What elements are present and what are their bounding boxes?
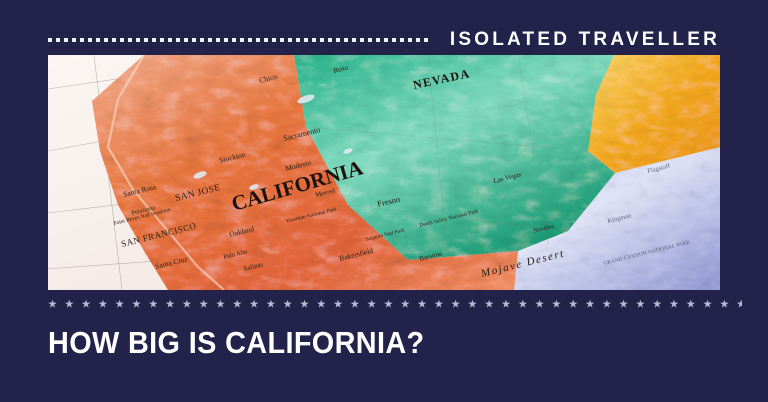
rule-star <box>703 300 712 309</box>
rule-star <box>468 300 477 309</box>
rule-star <box>48 300 57 309</box>
rule-star <box>619 300 628 309</box>
rule-dot <box>136 38 140 42</box>
rule-star <box>300 300 309 309</box>
rule-dot <box>328 38 332 42</box>
rule-star <box>720 300 729 309</box>
rule-star <box>199 300 208 309</box>
rule-star <box>384 300 393 309</box>
rule-dot <box>344 38 348 42</box>
rule-star <box>149 300 158 309</box>
rule-star <box>401 300 410 309</box>
brand-wordmark: ISOLATED TRAVELLER <box>450 29 720 51</box>
rule-star <box>569 300 578 309</box>
rule-star <box>502 300 511 309</box>
dotted-rule <box>48 33 430 47</box>
rule-dot <box>384 38 388 42</box>
rule-dot <box>280 38 284 42</box>
rule-dot <box>112 38 116 42</box>
rule-dot <box>96 38 100 42</box>
rule-star <box>98 300 107 309</box>
rule-star <box>535 300 544 309</box>
rule-dot <box>176 38 180 42</box>
rule-star <box>334 300 343 309</box>
rule-star <box>266 300 275 309</box>
rule-dot <box>88 38 92 42</box>
rule-dot <box>104 38 108 42</box>
rule-dot <box>312 38 316 42</box>
rule-dot <box>48 38 52 42</box>
rule-star <box>65 300 74 309</box>
rule-dot <box>72 38 76 42</box>
rule-dot <box>144 38 148 42</box>
rule-dot <box>232 38 236 42</box>
rule-star <box>418 300 427 309</box>
rule-dot <box>368 38 372 42</box>
rule-dot <box>80 38 84 42</box>
rule-dot <box>416 38 420 42</box>
rule-dot <box>120 38 124 42</box>
rule-dot <box>240 38 244 42</box>
rule-star <box>350 300 359 309</box>
rule-dot <box>352 38 356 42</box>
rule-star <box>552 300 561 309</box>
star-rule <box>48 297 742 311</box>
rule-star <box>216 300 225 309</box>
rule-dot <box>56 38 60 42</box>
rule-star <box>602 300 611 309</box>
rule-star <box>737 300 742 309</box>
rule-dot <box>200 38 204 42</box>
rule-star <box>434 300 443 309</box>
rule-dot <box>392 38 396 42</box>
rule-star <box>367 300 376 309</box>
rule-dot <box>160 38 164 42</box>
rule-star <box>132 300 141 309</box>
rule-star <box>686 300 695 309</box>
rule-star <box>166 300 175 309</box>
rule-star <box>669 300 678 309</box>
rule-dot <box>272 38 276 42</box>
rule-star <box>653 300 662 309</box>
rule-dot <box>296 38 300 42</box>
rule-star <box>250 300 259 309</box>
rule-dot <box>336 38 340 42</box>
rule-dot <box>224 38 228 42</box>
map-illustration: CALIFORNIA NEVADA Santa Rosa Petaluma SA… <box>48 55 720 290</box>
rule-star <box>485 300 494 309</box>
rule-dot <box>376 38 380 42</box>
rule-dot <box>408 38 412 42</box>
social-card: ISOLATED TRAVELLER <box>0 0 768 402</box>
rule-star <box>636 300 645 309</box>
rule-dot <box>400 38 404 42</box>
rule-star <box>451 300 460 309</box>
rule-star <box>182 300 191 309</box>
rule-star <box>518 300 527 309</box>
rule-star <box>283 300 292 309</box>
rule-dot <box>216 38 220 42</box>
rule-star <box>115 300 124 309</box>
rule-star <box>317 300 326 309</box>
rule-dot <box>288 38 292 42</box>
page-title: HOW BIG IS CALIFORNIA? <box>48 325 425 361</box>
rule-dot <box>424 38 428 42</box>
rule-dot <box>168 38 172 42</box>
rule-dot <box>256 38 260 42</box>
rule-dot <box>304 38 308 42</box>
rule-dot <box>264 38 268 42</box>
rule-star <box>233 300 242 309</box>
map-image: CALIFORNIA NEVADA Santa Rosa Petaluma SA… <box>48 55 720 290</box>
rule-star <box>82 300 91 309</box>
rule-dot <box>64 38 68 42</box>
rule-dot <box>320 38 324 42</box>
rule-star <box>586 300 595 309</box>
rule-dot <box>152 38 156 42</box>
rule-dot <box>360 38 364 42</box>
rule-dot <box>128 38 132 42</box>
rule-dot <box>208 38 212 42</box>
rule-dot <box>248 38 252 42</box>
rule-dot <box>192 38 196 42</box>
rule-dot <box>184 38 188 42</box>
